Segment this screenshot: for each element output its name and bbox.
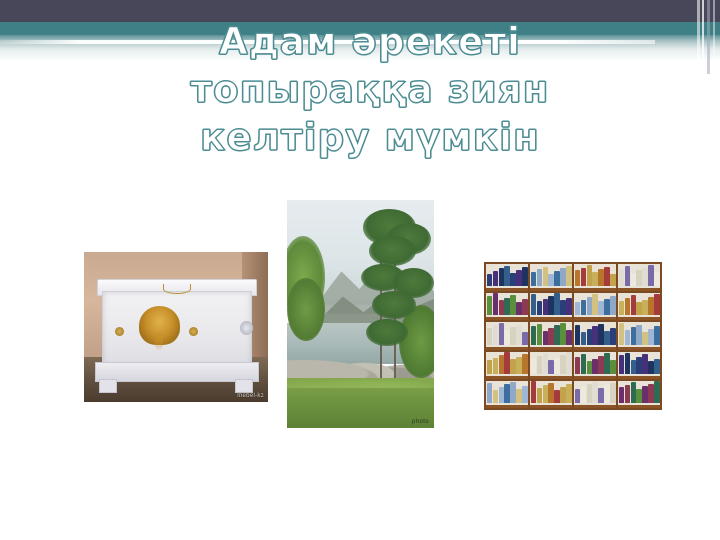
book-spine — [499, 300, 504, 315]
shelf-cell — [618, 322, 660, 349]
book-spine — [598, 269, 603, 286]
book-spine — [493, 358, 498, 374]
book-spine — [581, 268, 586, 287]
pine-branch-4 — [372, 291, 416, 318]
book-spine — [610, 274, 615, 287]
chest-photo-watermark: mebel-kz — [237, 393, 264, 399]
book-spine — [537, 356, 542, 374]
book-spine — [631, 295, 636, 315]
book-spine — [510, 273, 515, 287]
book-spine — [554, 325, 559, 344]
book-spine — [642, 300, 647, 316]
book-spine — [531, 294, 536, 315]
book-spine — [554, 390, 559, 403]
book-spine — [566, 298, 571, 316]
book-spine — [537, 301, 542, 315]
book-spine — [522, 299, 527, 315]
book-spine — [531, 272, 536, 286]
shelf-cell — [530, 293, 572, 320]
book-spine — [581, 300, 586, 316]
book-spine — [543, 385, 548, 403]
book-spine — [604, 299, 609, 316]
chest-handle — [163, 284, 191, 294]
book-spine — [543, 353, 548, 374]
book-spine — [625, 266, 630, 286]
landscape-photo-watermark: photo — [412, 419, 429, 425]
book-spine — [636, 325, 641, 345]
book-spine — [642, 332, 647, 345]
shelf-cell — [618, 264, 660, 291]
landscape-scene — [287, 200, 434, 428]
chest-foot-right — [235, 379, 254, 393]
book-spine — [493, 390, 498, 403]
book-spine — [648, 384, 653, 403]
book-spine — [566, 266, 571, 287]
header-edge-stripes — [694, 0, 720, 74]
shelf-cell — [530, 381, 572, 408]
book-spine — [522, 332, 527, 345]
shelf-cell — [574, 352, 616, 379]
book-spine — [548, 274, 553, 287]
shelf-cell — [574, 293, 616, 320]
book-spine — [636, 357, 641, 374]
book-spine — [566, 330, 571, 345]
book-spine — [604, 385, 609, 403]
chest-foot-left — [99, 379, 118, 393]
shelf-cell — [486, 381, 528, 408]
book-spine — [504, 352, 509, 374]
book-spine — [575, 389, 580, 403]
book-spine — [631, 382, 636, 403]
book-spine — [516, 302, 521, 315]
book-spine — [648, 329, 653, 344]
book-spine — [642, 354, 647, 374]
book-spine — [592, 326, 597, 344]
book-spine — [654, 359, 659, 374]
book-spine — [598, 388, 603, 403]
book-spine — [654, 381, 659, 403]
shelf-cell — [618, 381, 660, 408]
book-spine — [543, 299, 548, 316]
book-spine — [575, 270, 580, 286]
book-spine — [510, 382, 515, 403]
book-spine — [516, 357, 521, 374]
book-spine — [554, 271, 559, 286]
book-spine — [554, 293, 559, 315]
edge-stripe-3 — [707, 0, 710, 74]
book-spine — [548, 328, 553, 344]
shelf-cell — [530, 352, 572, 379]
book-spine — [619, 301, 624, 316]
shelf-cell — [618, 293, 660, 320]
book-spine — [631, 273, 636, 286]
book-spine — [654, 294, 659, 315]
shelf-cell — [486, 293, 528, 320]
chest-gold-ornament — [139, 306, 179, 345]
book-spine — [604, 331, 609, 345]
book-spine — [516, 325, 521, 345]
book-spine — [493, 325, 498, 344]
shelf-cell — [486, 264, 528, 291]
book-spine — [554, 358, 559, 374]
book-spine — [631, 360, 636, 374]
bookstore-shelves-photo[interactable] — [484, 262, 662, 410]
book-spine — [648, 297, 653, 315]
book-spine — [560, 387, 565, 403]
book-spine — [575, 325, 580, 345]
edge-stripe-4 — [713, 0, 715, 74]
shelf-cell — [574, 322, 616, 349]
book-spine — [510, 359, 515, 374]
book-spine — [610, 383, 615, 403]
book-spine — [581, 332, 586, 345]
book-spine — [631, 327, 636, 344]
book-spine — [487, 360, 492, 374]
book-spine — [560, 355, 565, 374]
chest-knob-center — [189, 327, 198, 336]
presentation-slide: Адам әрекеті топыраққа зиян келтіру мүмк… — [0, 0, 720, 540]
book-spine — [587, 384, 592, 403]
shelf-cell — [486, 352, 528, 379]
book-spine — [560, 268, 565, 286]
shelf-cell — [618, 352, 660, 379]
book-spine — [487, 274, 492, 287]
book-spine — [548, 296, 553, 315]
book-spine — [499, 355, 504, 374]
shelf-cell — [574, 381, 616, 408]
book-spine — [548, 383, 553, 403]
book-spine — [592, 272, 597, 286]
book-spine — [625, 353, 630, 374]
book-spine — [510, 295, 515, 315]
shelf-cell — [530, 322, 572, 349]
book-spine — [587, 265, 592, 286]
book-spine — [598, 324, 603, 345]
chest-scene — [84, 252, 268, 402]
book-spine — [610, 296, 615, 315]
book-spine — [587, 361, 592, 374]
book-spine — [537, 324, 542, 345]
book-spine — [522, 267, 527, 286]
book-spine — [493, 271, 498, 286]
book-spine — [587, 329, 592, 344]
book-spine — [537, 388, 542, 403]
book-spine — [598, 356, 603, 374]
book-spine — [604, 353, 609, 374]
book-spine — [575, 357, 580, 374]
shelf-cell — [530, 264, 572, 291]
book-spine — [619, 269, 624, 287]
book-spine — [516, 270, 521, 286]
book-spine — [592, 294, 597, 315]
book-spine — [510, 327, 515, 344]
book-spine — [543, 331, 548, 345]
shelf-cell-grid — [484, 262, 662, 410]
pine-branch-5 — [366, 319, 407, 346]
book-spine — [543, 267, 548, 287]
edge-stripe-2 — [702, 0, 704, 74]
book-spine — [604, 267, 609, 287]
book-spine — [560, 300, 565, 315]
book-spine — [587, 297, 592, 315]
book-spine — [548, 360, 553, 374]
white-antique-chest-photo[interactable]: mebel-kz — [84, 252, 268, 402]
book-spine — [642, 386, 647, 403]
book-spine — [642, 268, 647, 287]
book-spine — [625, 298, 630, 315]
book-spine — [487, 296, 492, 315]
book-spine — [619, 355, 624, 374]
book-spine — [531, 359, 536, 374]
book-spine — [648, 361, 653, 374]
chest-knob-right — [240, 321, 253, 335]
book-spine — [504, 298, 509, 316]
book-spine — [566, 352, 571, 374]
book-spine — [625, 385, 630, 403]
book-spine — [619, 387, 624, 403]
book-spine — [625, 330, 630, 345]
book-spine — [592, 359, 597, 374]
book-spine — [531, 326, 536, 344]
shelf-cell — [574, 264, 616, 291]
book-spine — [636, 270, 641, 286]
book-spine — [537, 269, 542, 286]
book-spine — [566, 384, 571, 403]
book-spine — [636, 302, 641, 315]
book-spine — [499, 268, 504, 286]
book-spine — [654, 272, 659, 286]
book-spine — [619, 323, 624, 345]
edge-stripe-1 — [697, 0, 700, 74]
book-spine — [598, 301, 603, 315]
book-spine — [610, 328, 615, 344]
book-spine — [487, 383, 492, 403]
book-spine — [648, 265, 653, 286]
shelf-cell — [486, 322, 528, 349]
book-spine — [581, 386, 586, 403]
book-spine — [560, 323, 565, 345]
book-spine — [504, 384, 509, 403]
book-spine — [654, 326, 659, 344]
book-spine — [522, 354, 527, 374]
book-spine — [504, 266, 509, 287]
book-spine — [531, 381, 536, 403]
book-spine — [575, 302, 580, 315]
book-spine — [504, 330, 509, 345]
book-spine — [636, 389, 641, 403]
book-spine — [493, 293, 498, 315]
book-spine — [516, 389, 521, 403]
book-spine — [487, 328, 492, 344]
book-spine — [499, 387, 504, 403]
book-spine — [581, 354, 586, 374]
book-spine — [592, 381, 597, 403]
lake-forest-landscape-photo[interactable]: photo — [287, 200, 434, 428]
book-spine — [499, 323, 504, 345]
slide-title: Адам әрекеті топыраққа зиян келтіру мүмк… — [60, 18, 680, 162]
book-spine — [610, 360, 615, 374]
book-spine — [522, 386, 527, 403]
